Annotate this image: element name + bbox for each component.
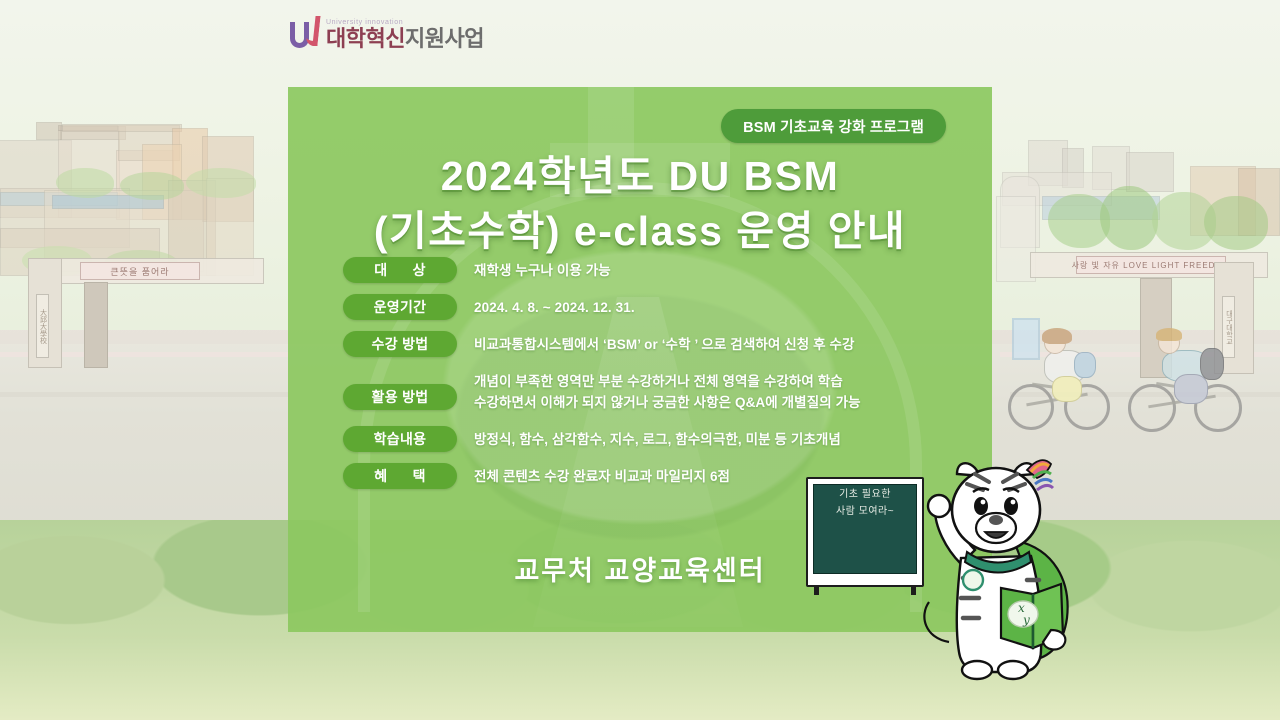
rider-backpack [1074,352,1096,378]
info-row: 활용 방법 개념이 부족한 영역만 부분 수강하거나 전체 영역을 수강하여 학… [343,368,943,414]
mascot-nose [989,515,1003,525]
mascot-eye [1004,497,1018,515]
logo-english-text: University innovation [326,19,484,26]
rider-backpack [1200,348,1224,380]
row-label-period: 운영기간 [343,294,457,320]
mascot-eye [974,497,988,515]
logo-text-group: University innovation 대학혁신지원사업 [326,19,484,50]
tree-cluster [56,168,114,198]
info-row: 수강 방법 비교과통합시스템에서 ‘BSM’ or ‘수학 ’ 으로 검색하여 … [343,331,943,357]
row-value-target: 재학생 누구나 이용 가능 [474,257,611,281]
poster-title-line1: 2024학년도 DU BSM [441,153,839,199]
logo-korean-text: 대학혁신지원사업 [326,28,484,50]
poster-title: 2024학년도 DU BSM (기초수학) e-class 운영 안내 [288,149,992,258]
row-value-line: 재학생 누구나 이용 가능 [474,260,611,281]
row-label-target: 대 상 [343,257,457,283]
poster-canvas: 큰뜻을 품어라 大邱大學校 사랑 빛 자유 LOVE LIGHT FREEDOM… [0,0,1280,720]
building-block [62,124,182,132]
row-label-benefit: 혜 택 [343,463,457,489]
tree-cluster [1100,186,1158,250]
info-row: 대 상 재학생 누구나 이용 가능 [343,257,943,283]
left-gate-sign: 큰뜻을 품어라 [80,262,200,280]
bicycle-wheel [1008,384,1054,430]
row-value-line: 2024. 4. 8. ~ 2024. 12. 31. [474,297,635,318]
row-label-usage-method: 활용 방법 [343,384,457,410]
row-value-benefit: 전체 콘텐츠 수강 완료자 비교과 마일리지 6점 [474,463,730,487]
row-value-line: 방정식, 함수, 삼각함수, 지수, 로그, 함수의극한, 미분 등 기초개념 [474,429,841,450]
cyclist-female [1008,328,1128,436]
row-value-enrollment-method: 비교과통합시스템에서 ‘BSM’ or ‘수학 ’ 으로 검색하여 신청 후 수… [474,331,855,355]
book-label-y: y [1022,613,1030,627]
row-value-line: 수강하면서 이해가 되지 않거나 궁금한 사항은 Q&A에 개별질의 가능 [474,392,861,413]
uj-mark-icon [290,16,320,50]
program-badge: BSM 기초교육 강화 프로그램 [721,109,946,143]
mascot-foot [998,661,1028,679]
tree-cluster [120,172,184,200]
rider-legs [1174,374,1208,404]
tree-cluster [186,168,256,198]
logo-korean-red: 대학혁신 [326,26,405,51]
mascot-paw [928,495,950,517]
row-value-period: 2024. 4. 8. ~ 2024. 12. 31. [474,294,635,318]
info-row: 학습내용 방정식, 함수, 삼각함수, 지수, 로그, 함수의극한, 미분 등 … [343,426,943,452]
logo-letter-j-icon [305,16,320,46]
poster-title-line2: (기초수학) e-class 운영 안내 [288,204,992,259]
rider-hair [1156,328,1182,341]
info-rows: 대 상 재학생 누구나 이용 가능 운영기간 2024. 4. 8. ~ 202… [343,257,943,500]
logo-korean-gray: 지원사업 [405,26,484,51]
university-innovation-logo: University innovation 대학혁신지원사업 [290,16,484,50]
row-label-enrollment-method: 수강 방법 [343,331,457,357]
row-value-line: 비교과통합시스템에서 ‘BSM’ or ‘수학 ’ 으로 검색하여 신청 후 수… [474,334,855,355]
road-line [0,392,288,397]
info-row: 운영기간 2024. 4. 8. ~ 2024. 12. 31. [343,294,943,320]
mascot-medal [963,570,983,590]
tree-cluster [1204,196,1268,250]
rider-legs [1052,376,1082,402]
row-label-curriculum: 학습내용 [343,426,457,452]
left-pillar-plaque: 大邱大學校 [36,294,49,358]
right-gate-sign: 사랑 빛 자유 LOVE LIGHT FREEDOM [1076,256,1226,274]
row-value-line: 개념이 부족한 영역만 부분 수강하거나 전체 영역을 수강하여 학습 [474,371,861,392]
mascot-foot [962,661,992,679]
row-value-curriculum: 방정식, 함수, 삼각함수, 지수, 로그, 함수의극한, 미분 등 기초개념 [474,426,841,450]
rider-hair [1042,328,1072,344]
cyclist-male [1128,328,1258,436]
left-gate-pillar [84,282,108,368]
row-value-line: 전체 콘텐츠 수강 완료자 비교과 마일리지 6점 [474,466,730,487]
row-value-usage-method: 개념이 부족한 영역만 부분 수강하거나 전체 영역을 수강하여 학습 수강하면… [474,368,861,414]
bicycle-wheel [1128,384,1176,432]
white-tiger-mascot: x y [905,452,1105,692]
